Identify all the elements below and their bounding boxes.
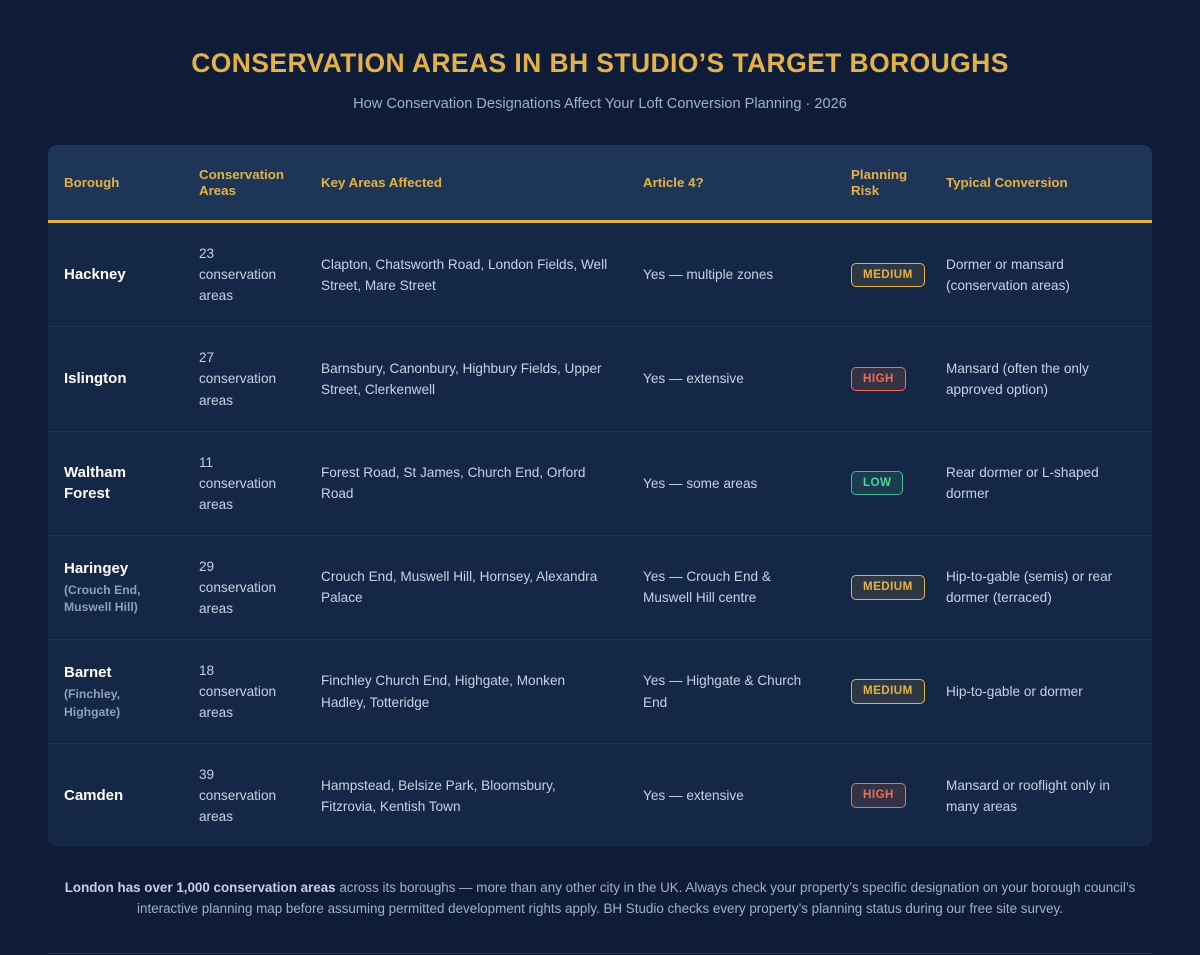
cell-planning-risk: LOW: [835, 431, 930, 535]
infographic-page: CONSERVATION AREAS IN BH STUDIO’S TARGET…: [0, 0, 1200, 955]
cell-conservation-areas: 27 conservation areas: [183, 327, 305, 431]
cell-typical-conversion: Dormer or mansard (conservation areas): [930, 222, 1152, 327]
cell-borough: Haringey(Crouch End, Muswell Hill): [48, 535, 183, 639]
cell-borough: Waltham Forest: [48, 431, 183, 535]
borough-name: Hackney: [64, 266, 126, 283]
cell-key-areas: Barnsbury, Canonbury, Highbury Fields, U…: [305, 327, 627, 431]
column-header-conservation-areas: Conservation Areas: [183, 145, 305, 222]
cell-article-4: Yes — extensive: [627, 744, 835, 848]
cell-article-4: Yes — extensive: [627, 327, 835, 431]
cell-article-4: Yes — multiple zones: [627, 222, 835, 327]
table-row: Haringey(Crouch End, Muswell Hill)29 con…: [48, 535, 1152, 639]
borough-name: Waltham Forest: [64, 464, 126, 502]
cell-conservation-areas: 11 conservation areas: [183, 431, 305, 535]
status-badge: MEDIUM: [851, 263, 925, 288]
cell-typical-conversion: Mansard (often the only approved option): [930, 327, 1152, 431]
table-row: Hackney23 conservation areasClapton, Cha…: [48, 222, 1152, 327]
borough-name: Islington: [64, 370, 127, 387]
cell-conservation-areas: 18 conservation areas: [183, 639, 305, 743]
column-header-borough: Borough: [48, 145, 183, 222]
cell-borough: Camden: [48, 744, 183, 848]
borough-name: Camden: [64, 787, 123, 804]
cell-key-areas: Clapton, Chatsworth Road, London Fields,…: [305, 222, 627, 327]
borough-name: Haringey: [64, 560, 128, 577]
cell-borough: Hackney: [48, 222, 183, 327]
cell-conservation-areas: 23 conservation areas: [183, 222, 305, 327]
footnote-highlight: London has over 1,000 conservation areas: [65, 880, 336, 895]
cell-key-areas: Hampstead, Belsize Park, Bloomsbury, Fit…: [305, 744, 627, 848]
table-row: Waltham Forest11 conservation areasFores…: [48, 431, 1152, 535]
footnote: London has over 1,000 conservation areas…: [55, 878, 1145, 919]
cell-planning-risk: MEDIUM: [835, 535, 930, 639]
status-badge: HIGH: [851, 367, 906, 392]
column-header-planning-risk: Planning Risk: [835, 145, 930, 222]
borough-sublabel: (Crouch End, Muswell Hill): [64, 582, 167, 617]
table-row: Islington27 conservation areasBarnsbury,…: [48, 327, 1152, 431]
column-header-key-areas: Key Areas Affected: [305, 145, 627, 222]
cell-planning-risk: HIGH: [835, 744, 930, 848]
borough-name: Barnet: [64, 664, 112, 681]
table-row: Barnet(Finchley, Highgate)18 conservatio…: [48, 639, 1152, 743]
cell-typical-conversion: Mansard or rooflight only in many areas: [930, 744, 1152, 848]
cell-key-areas: Crouch End, Muswell Hill, Hornsey, Alexa…: [305, 535, 627, 639]
cell-article-4: Yes — some areas: [627, 431, 835, 535]
page-subtitle: How Conservation Designations Affect You…: [48, 95, 1152, 114]
cell-conservation-areas: 39 conservation areas: [183, 744, 305, 848]
cell-article-4: Yes — Highgate & Church End: [627, 639, 835, 743]
document-header: CONSERVATION AREAS IN BH STUDIO’S TARGET…: [48, 0, 1152, 114]
conservation-areas-table-container: Borough Conservation Areas Key Areas Aff…: [48, 145, 1152, 848]
table-row: Camden39 conservation areasHampstead, Be…: [48, 744, 1152, 848]
page-title: CONSERVATION AREAS IN BH STUDIO’S TARGET…: [48, 48, 1152, 80]
cell-typical-conversion: Hip-to-gable (semis) or rear dormer (ter…: [930, 535, 1152, 639]
cell-planning-risk: MEDIUM: [835, 222, 930, 327]
table-body: Hackney23 conservation areasClapton, Cha…: [48, 222, 1152, 848]
status-badge: MEDIUM: [851, 575, 925, 600]
cell-planning-risk: MEDIUM: [835, 639, 930, 743]
cell-conservation-areas: 29 conservation areas: [183, 535, 305, 639]
status-badge: LOW: [851, 471, 903, 496]
cell-key-areas: Finchley Church End, Highgate, Monken Ha…: [305, 639, 627, 743]
status-badge: MEDIUM: [851, 679, 925, 704]
conservation-areas-table: Borough Conservation Areas Key Areas Aff…: [48, 145, 1152, 848]
cell-borough: Islington: [48, 327, 183, 431]
cell-typical-conversion: Hip-to-gable or dormer: [930, 639, 1152, 743]
cell-typical-conversion: Rear dormer or L-shaped dormer: [930, 431, 1152, 535]
borough-sublabel: (Finchley, Highgate): [64, 686, 167, 721]
cell-borough: Barnet(Finchley, Highgate): [48, 639, 183, 743]
cell-planning-risk: HIGH: [835, 327, 930, 431]
cell-article-4: Yes — Crouch End & Muswell Hill centre: [627, 535, 835, 639]
column-header-article-4: Article 4?: [627, 145, 835, 222]
table-header-row: Borough Conservation Areas Key Areas Aff…: [48, 145, 1152, 222]
column-header-typical-conversion: Typical Conversion: [930, 145, 1152, 222]
cell-key-areas: Forest Road, St James, Church End, Orfor…: [305, 431, 627, 535]
table-header: Borough Conservation Areas Key Areas Aff…: [48, 145, 1152, 222]
status-badge: HIGH: [851, 783, 906, 808]
